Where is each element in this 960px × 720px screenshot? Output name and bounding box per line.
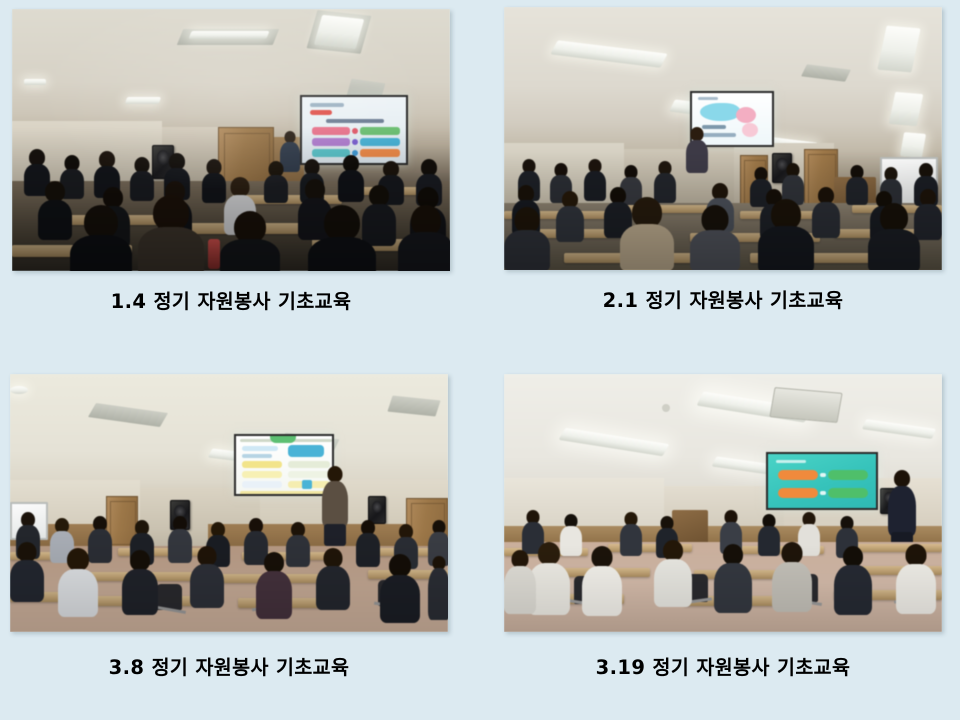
classroom-photo-1 — [12, 9, 450, 271]
photo-caption-3: 3.8 정기 자원봉사 기초교육 — [10, 651, 448, 680]
photo-caption-1: 1.4 정기 자원봉사 기초교육 — [12, 285, 450, 314]
photo-cell-3: 3.8 정기 자원봉사 기초교육 — [10, 374, 450, 679]
photo-cell-4: 3.19 정기 자원봉사 기초교육 — [504, 374, 944, 679]
classroom-photo-2 — [504, 7, 942, 270]
photo-caption-2: 2.1 정기 자원봉사 기초교육 — [504, 284, 942, 313]
classroom-photo-3 — [10, 374, 448, 632]
photo-cell-2: 2.1 정기 자원봉사 기초교육 — [504, 7, 944, 312]
classroom-photo-4 — [504, 374, 942, 632]
photo-cell-1: 1.4 정기 자원봉사 기초교육 — [12, 9, 452, 314]
photo-caption-4: 3.19 정기 자원봉사 기초교육 — [504, 651, 942, 680]
page-root: 1.4 정기 자원봉사 기초교육 — [0, 0, 960, 720]
